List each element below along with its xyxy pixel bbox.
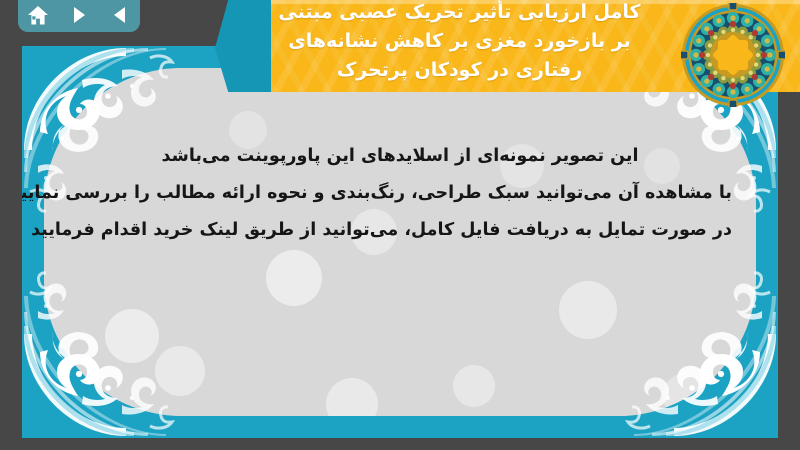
previous-slide-button[interactable]	[105, 2, 135, 28]
home-icon	[27, 5, 49, 26]
body-line-2: با مشاهده آن می‌توانید سبک طراحی، رنگ‌بن…	[68, 175, 732, 212]
title-line-2: بر بازخورد مغزی بر کاهش نشانه‌های	[215, 27, 704, 56]
slide-viewer: این تصویر نمونه‌ای از اسلایدهای این پاور…	[0, 0, 800, 450]
slide-navigation-bar[interactable]	[18, 0, 140, 32]
persian-ornament-medallion	[681, 3, 785, 107]
slide-frame: این تصویر نمونه‌ای از اسلایدهای این پاور…	[22, 46, 778, 438]
home-button[interactable]	[23, 2, 53, 28]
title-line-1: کامل ارزیابی تأثیر تحریک عصبی مبتنی	[215, 0, 704, 27]
title-line-3: رفتاری در کودکان پرتحرک	[215, 56, 704, 85]
page-title: کامل ارزیابی تأثیر تحریک عصبی مبتنی بر ب…	[215, 0, 704, 85]
triangle-left-icon	[110, 5, 130, 25]
body-line-3: در صورت تمایل به دریافت فایل کامل، می‌تو…	[68, 212, 732, 249]
next-slide-button[interactable]	[64, 2, 94, 28]
body-line-1: این تصویر نمونه‌ای از اسلایدهای این پاور…	[68, 138, 732, 175]
triangle-right-icon	[69, 5, 89, 25]
slide-body-text: این تصویر نمونه‌ای از اسلایدهای این پاور…	[68, 138, 732, 249]
